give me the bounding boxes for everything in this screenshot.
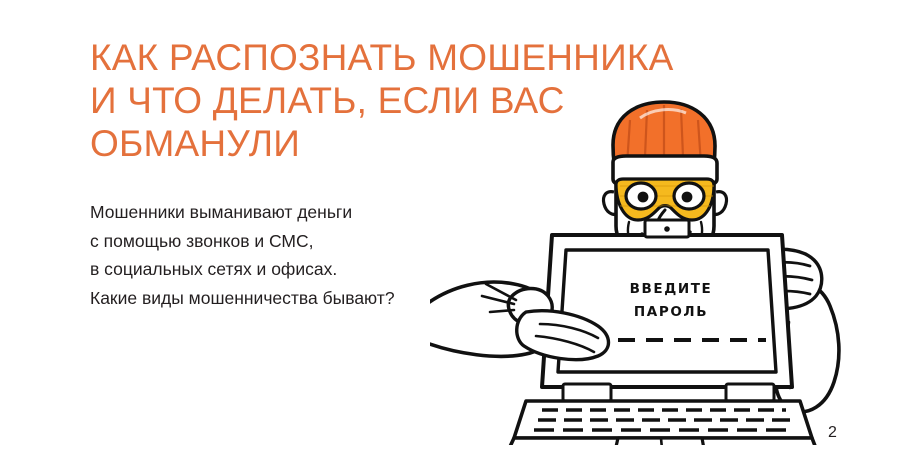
right-hinge-tab <box>726 384 774 401</box>
webcam-icon <box>664 226 670 232</box>
page-title: Как распознать мошенника и что делать, е… <box>90 36 690 165</box>
slide-canvas: Как распознать мошенника и что делать, е… <box>0 0 920 460</box>
body-paragraph: Мошенники выманивают деньги с помощью зв… <box>90 198 470 312</box>
left-hinge-tab <box>563 384 611 401</box>
trackpad <box>613 438 706 445</box>
page-number: 2 <box>828 424 837 442</box>
left-pupil <box>638 192 649 203</box>
keyboard-deck <box>514 401 812 438</box>
right-pupil <box>682 192 693 203</box>
